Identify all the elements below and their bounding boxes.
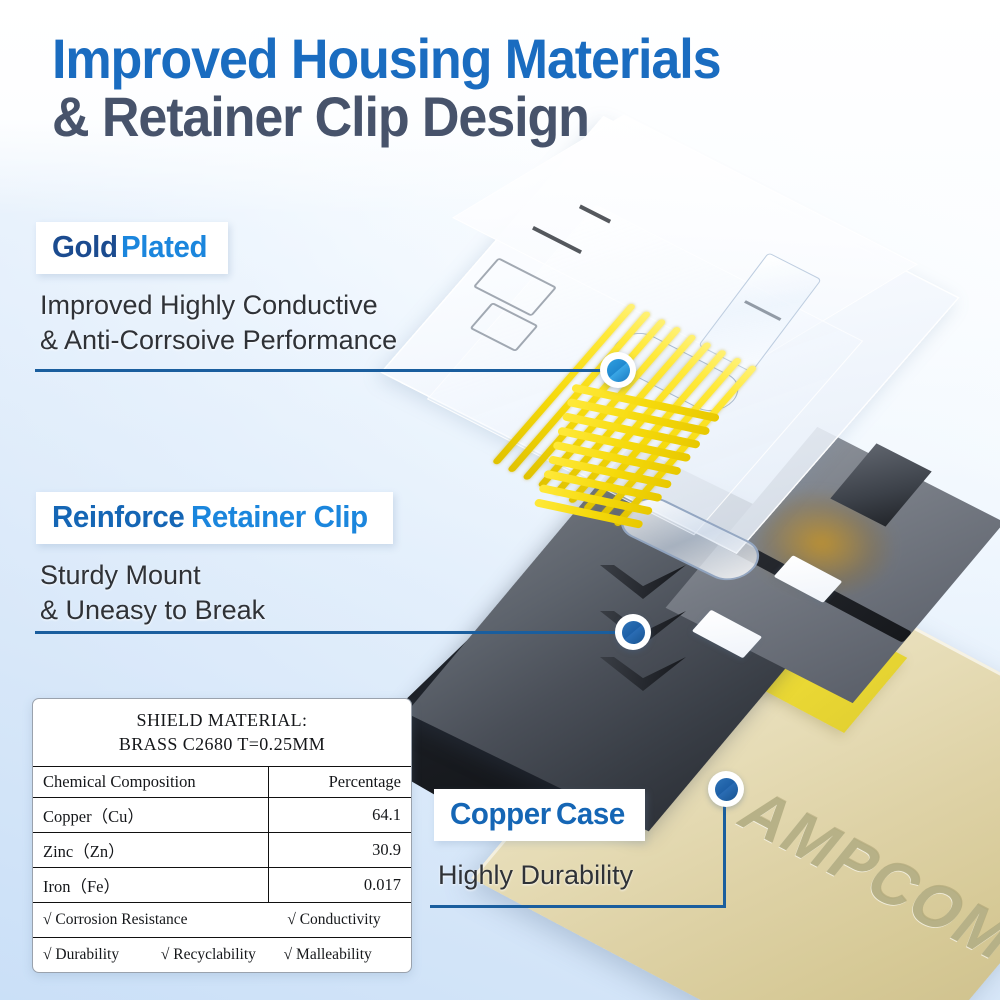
leader-line-retainer-clip: [35, 631, 635, 634]
page-title: Improved Housing Materials & Retainer Cl…: [52, 30, 982, 146]
check-icon: √: [287, 911, 296, 929]
row-label-iron: Iron（Fe）: [33, 868, 269, 903]
chevron-down-icon: [600, 565, 686, 599]
property-conductivity-label: Conductivity: [300, 911, 381, 928]
callout-text-gold-plated: Improved Highly Conductive & Anti-Corrso…: [40, 288, 397, 358]
marker-inner-dot: [622, 621, 645, 644]
leader-line-copper-case-horizontal: [430, 905, 726, 908]
table-row-properties-1: √ Corrosion Resistance √ Conductivity: [33, 903, 411, 938]
callout-text-copper-case: Highly Durability: [438, 858, 633, 893]
property-durability-label: Durability: [55, 946, 119, 963]
callout-badge-gold-plated-part1: Gold: [52, 229, 118, 265]
check-icon: √: [43, 946, 52, 964]
check-icon: √: [284, 946, 293, 964]
property-recyclability-label: Recyclability: [173, 946, 256, 963]
page-title-line-2: & Retainer Clip Design: [52, 88, 917, 146]
row-label-copper: Copper（Cu）: [33, 798, 269, 833]
property-recyclability: √ Recyclability: [161, 946, 256, 963]
property-malleability-label: Malleability: [296, 946, 372, 963]
spec-table-title: SHIELD MATERIAL: BRASS C2680 T=0.25MM: [33, 699, 411, 767]
check-icon: √: [161, 946, 170, 964]
column-header-percentage: Percentage: [269, 767, 412, 798]
leader-line-copper-case-vertical: [723, 805, 726, 908]
callout-badge-retainer-clip: Reinforce Retainer Clip: [36, 492, 393, 544]
property-corrosion-resistance-label: Corrosion Resistance: [55, 911, 187, 928]
row-value-zinc: 30.9: [269, 833, 412, 868]
table-row: Iron（Fe） 0.017: [33, 868, 411, 903]
callout-badge-retainer-clip-part2: Retainer Clip: [191, 499, 368, 535]
callout-marker-copper-case[interactable]: [708, 771, 744, 807]
callout-marker-gold-plated[interactable]: [600, 352, 636, 388]
infographic-canvas: Improved Housing Materials & Retainer Cl…: [0, 0, 1000, 1000]
callout-badge-retainer-clip-part1: Reinforce: [52, 499, 184, 535]
table-header-row: Chemical Composition Percentage: [33, 767, 411, 798]
callout-badge-gold-plated: Gold Plated: [36, 222, 228, 274]
marker-inner-dot: [715, 778, 738, 801]
property-durability: √ Durability: [43, 946, 119, 963]
leader-line-gold-plated: [35, 369, 620, 372]
shield-material-spec-table: SHIELD MATERIAL: BRASS C2680 T=0.25MM Ch…: [32, 698, 412, 973]
callout-badge-copper-case-part1: Copper: [450, 796, 551, 832]
table-row: Zinc（Zn） 30.9: [33, 833, 411, 868]
spec-table-title-line-2: BRASS C2680 T=0.25MM: [39, 732, 405, 756]
column-header-composition: Chemical Composition: [33, 767, 269, 798]
check-icon: √: [43, 911, 52, 929]
row-value-iron: 0.017: [269, 868, 412, 903]
table-row-properties-2: √ Durability √ Recyclability √ Malleabil…: [33, 938, 411, 973]
row-label-zinc: Zinc（Zn）: [33, 833, 269, 868]
property-malleability: √ Malleability: [284, 946, 372, 963]
retainer-clip-arrows: [600, 565, 710, 720]
property-corrosion-resistance: √ Corrosion Resistance: [43, 911, 188, 928]
property-conductivity: √ Conductivity: [287, 911, 380, 928]
chevron-down-icon: [600, 657, 686, 691]
composition-table: Chemical Composition Percentage Copper（C…: [33, 767, 411, 972]
page-title-line-1: Improved Housing Materials: [52, 30, 917, 88]
callout-badge-copper-case-part2: Case: [556, 796, 625, 832]
spec-table-title-line-1: SHIELD MATERIAL:: [39, 708, 405, 732]
callout-badge-gold-plated-part2: Plated: [121, 229, 207, 265]
callout-badge-copper-case: Copper Case: [434, 789, 645, 841]
marker-inner-dot: [607, 359, 630, 382]
callout-marker-retainer-clip[interactable]: [615, 614, 651, 650]
table-row: Copper（Cu） 64.1: [33, 798, 411, 833]
callout-text-retainer-clip: Sturdy Mount & Uneasy to Break: [40, 558, 265, 628]
row-value-copper: 64.1: [269, 798, 412, 833]
